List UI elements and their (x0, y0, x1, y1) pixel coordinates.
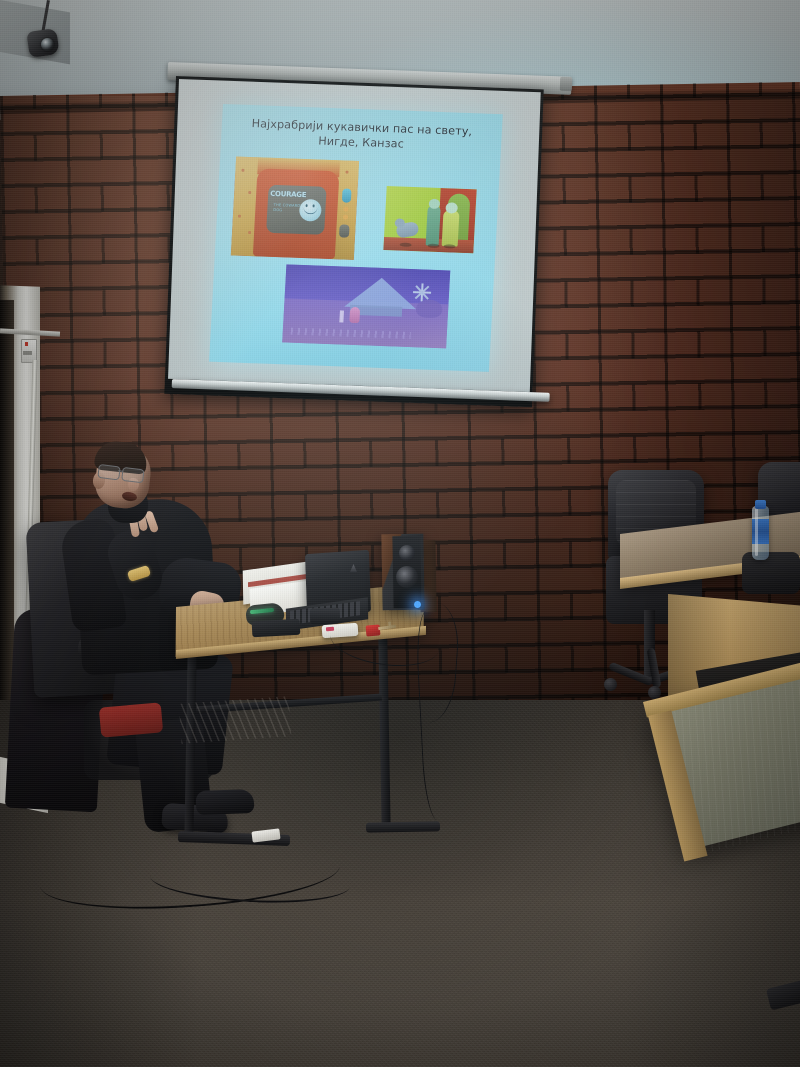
control-panel-led-icon (25, 342, 28, 346)
tree-silhouette (416, 299, 443, 318)
slide-image-courage-tv: COURAGE THE COWARDLY DOG (231, 157, 359, 260)
eyeglass-lens-left (97, 464, 121, 481)
lecture-room-photo: Најхрабрији кукавички пас на свету, Нигд… (0, 0, 800, 1067)
slide-image-characters (383, 186, 476, 253)
eyeglass-lens-right (121, 467, 145, 484)
laptop-hinge (310, 608, 340, 625)
character-short (442, 210, 460, 247)
character-tall (426, 206, 441, 246)
water-bottle-cap[interactable] (755, 500, 766, 509)
camera-lens-icon (41, 38, 54, 51)
tv-caption-main: COURAGE (270, 191, 310, 198)
slide-title-line1: Најхрабрији кукавички пас на свету, (251, 117, 472, 138)
screen-housing-end-cap (560, 77, 573, 91)
figure-pale (339, 310, 344, 322)
presenter-shoe-second (196, 789, 255, 815)
slide-title-line2: Нигде, Канзас (318, 135, 404, 151)
office-chair-second-seat (742, 552, 800, 594)
tv-knob (342, 188, 352, 202)
red-bag (99, 702, 163, 737)
figure-shadow (400, 243, 412, 247)
figure-shadow (443, 244, 455, 248)
speaker-tweeter-icon (399, 545, 415, 561)
tv-knob (339, 224, 350, 237)
chair-caster (604, 678, 617, 691)
cable-bundle (179, 696, 292, 744)
projected-slide: Најхрабрији кукавички пас на свету, Нигд… (209, 104, 503, 372)
slide-image-farmhouse-night (282, 264, 450, 348)
slide-title: Најхрабрији кукавички пас на свету, Нигд… (229, 115, 494, 155)
presenter-desk-foot-second (366, 821, 440, 832)
control-panel-button[interactable] (23, 351, 32, 355)
speaker-woofer-icon (396, 566, 418, 588)
figure-purple (349, 307, 360, 323)
figure-shadow (428, 244, 440, 248)
water-bottle-highlight (755, 508, 758, 556)
power-adapter (252, 619, 301, 637)
